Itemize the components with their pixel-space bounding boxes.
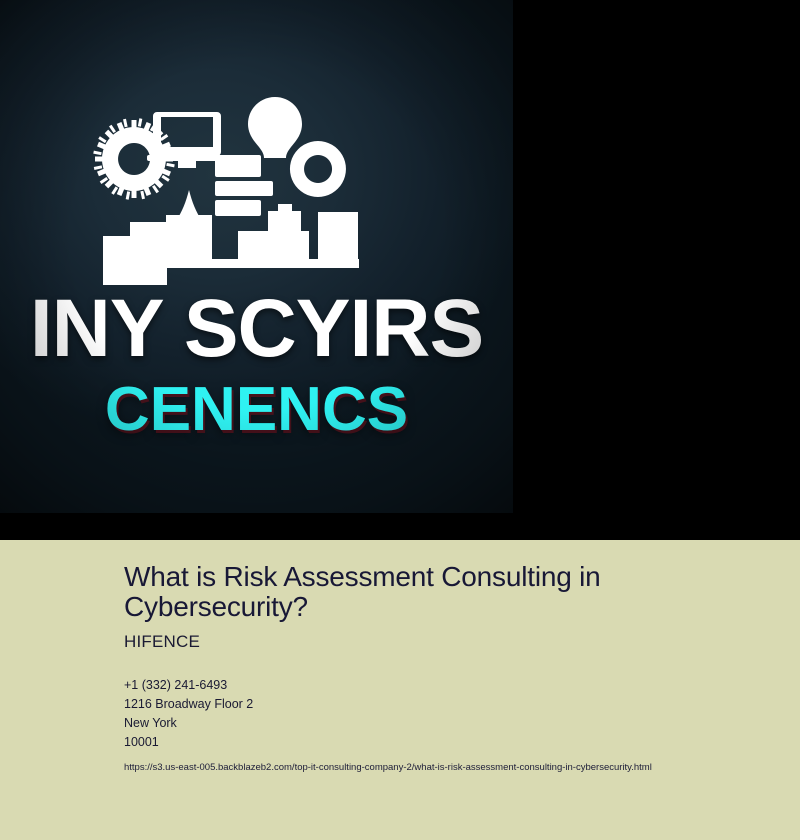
meta-inner: What is Risk Assessment Consulting in Cy…	[124, 562, 764, 774]
ring-icon	[290, 141, 346, 197]
contact-block: +1 (332) 241-6493 1216 Broadway Floor 2 …	[124, 676, 764, 752]
contact-phone[interactable]: +1 (332) 241-6493	[124, 676, 764, 695]
lightbulb-icon	[248, 97, 302, 158]
contact-postal-code: 10001	[124, 733, 764, 752]
page-title: What is Risk Assessment Consulting in Cy…	[124, 562, 714, 622]
brand-name: HIFENCE	[124, 632, 764, 652]
documents-icon	[215, 155, 273, 216]
hero-wordmark: INY SCYIRS CENENCS	[0, 283, 513, 513]
wordmark-main-text: INY SCYIRS	[30, 283, 483, 375]
gear-icon	[93, 118, 174, 199]
hero-thumbnail-image[interactable]: INY SCYIRS CENENCS	[0, 0, 513, 513]
contact-street: 1216 Broadway Floor 2	[124, 695, 764, 714]
wordmark-sub-text: CENENCS	[105, 375, 408, 445]
hero-band: INY SCYIRS CENENCS	[0, 0, 800, 540]
article-meta-panel: What is Risk Assessment Consulting in Cy…	[0, 540, 800, 840]
contact-city: New York	[124, 714, 764, 733]
page-root: INY SCYIRS CENENCS What is Risk Assessme…	[0, 0, 800, 840]
source-url-link[interactable]: https://s3.us-east-005.backblazeb2.com/t…	[124, 761, 764, 774]
